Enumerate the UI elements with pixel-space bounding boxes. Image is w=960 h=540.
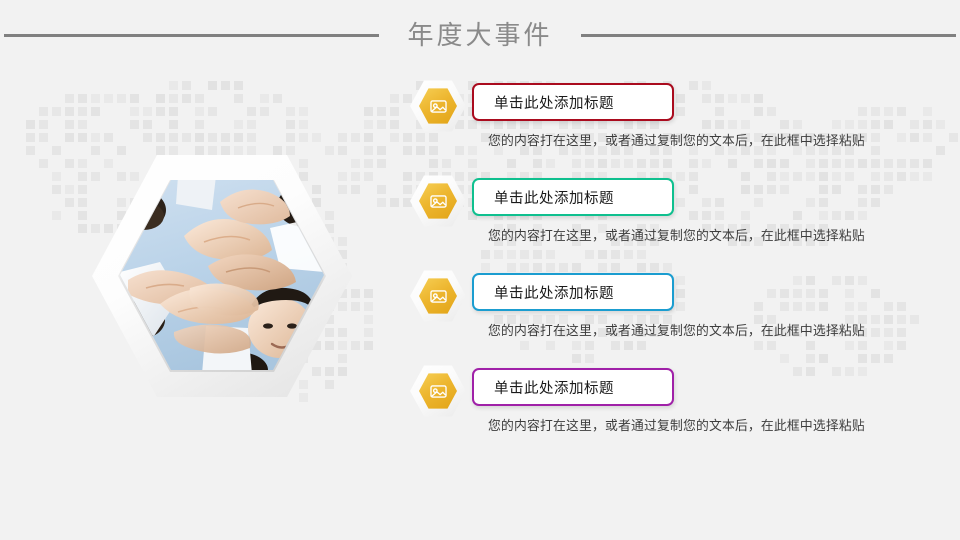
list-item[interactable]: 单击此处添加标题 您的内容打在这里，或者通过复制您的文本后，在此框中选择粘贴 [410,80,880,175]
picture-icon [419,373,457,409]
item-title-pill[interactable]: 单击此处添加标题 [472,178,674,216]
picture-icon [419,278,457,314]
item-body-text: 您的内容打在这里，或者通过复制您的文本后，在此框中选择粘贴 [488,320,880,341]
title-rule-right [581,34,956,37]
picture-icon [419,183,457,219]
item-title-pill[interactable]: 单击此处添加标题 [472,368,674,406]
item-title: 单击此处添加标题 [494,282,614,303]
title-rule-left [4,34,379,37]
hexagon-photo-frame [92,150,352,402]
item-body-text: 您的内容打在这里，或者通过复制您的文本后，在此框中选择粘贴 [488,130,880,151]
item-body-text: 您的内容打在这里，或者通过复制您的文本后，在此框中选择粘贴 [488,225,880,246]
item-title: 单击此处添加标题 [494,92,614,113]
hexagon-badge[interactable] [410,270,466,322]
list-item[interactable]: 单击此处添加标题 您的内容打在这里，或者通过复制您的文本后，在此框中选择粘贴 [410,270,880,365]
item-title-pill[interactable]: 单击此处添加标题 [472,273,674,311]
hexagon-badge[interactable] [410,365,466,417]
list-item[interactable]: 单击此处添加标题 您的内容打在这里，或者通过复制您的文本后，在此框中选择粘贴 [410,175,880,270]
page-title: 年度大事件 [379,22,580,48]
item-title: 单击此处添加标题 [494,187,614,208]
slide-header: 年度大事件 [0,0,960,70]
list-item[interactable]: 单击此处添加标题 您的内容打在这里，或者通过复制您的文本后，在此框中选择粘贴 [410,365,880,460]
timeline-items-list: 单击此处添加标题 您的内容打在这里，或者通过复制您的文本后，在此框中选择粘贴 单… [410,80,880,460]
item-title: 单击此处添加标题 [494,377,614,398]
item-title-pill[interactable]: 单击此处添加标题 [472,83,674,121]
item-body-text: 您的内容打在这里，或者通过复制您的文本后，在此框中选择粘贴 [488,415,880,436]
hexagon-badge[interactable] [410,175,466,227]
hexagon-badge[interactable] [410,80,466,132]
picture-icon [419,88,457,124]
